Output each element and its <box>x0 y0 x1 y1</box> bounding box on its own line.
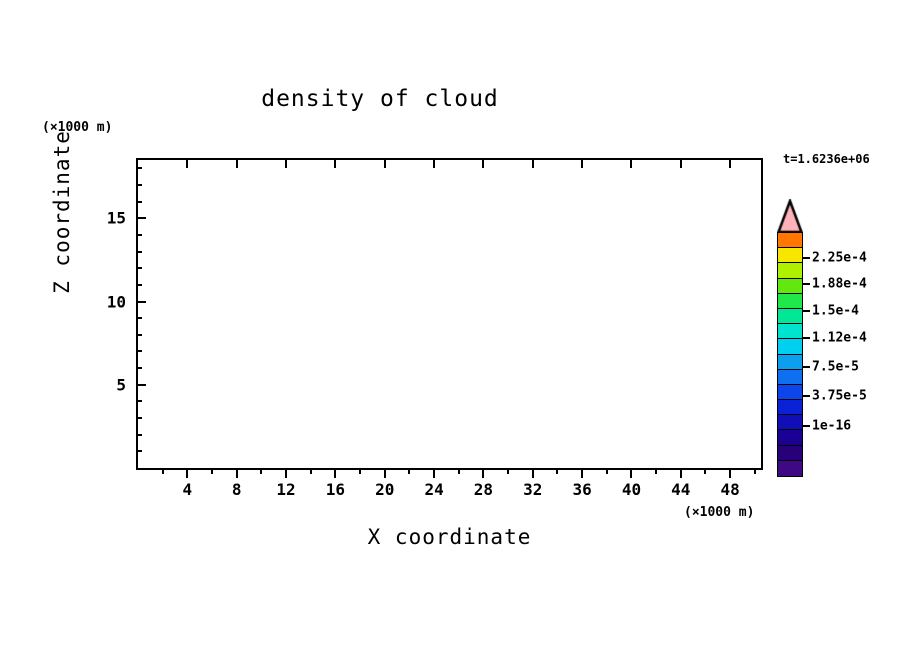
page-title: density of cloud <box>0 86 760 112</box>
colorbar-band <box>777 308 803 325</box>
colorbar-tick <box>803 283 810 285</box>
x-tick-minor <box>408 469 410 474</box>
y-tick-minor <box>137 267 142 269</box>
x-tick-top <box>729 160 731 168</box>
colorbar-band <box>777 429 803 446</box>
y-tick-label: 5 <box>0 375 126 394</box>
x-tick-top <box>334 160 336 168</box>
x-tick-minor <box>211 469 213 474</box>
y-tick-minor <box>137 350 142 352</box>
y-tick-minor <box>137 450 142 452</box>
x-tick-minor <box>655 469 657 474</box>
colorbar-tick-label: 1e-16 <box>812 419 851 434</box>
colorbar-band <box>777 445 803 462</box>
x-tick-minor <box>260 469 262 474</box>
colorbar-tick <box>803 257 810 259</box>
x-tick-major <box>334 469 336 478</box>
x-tick-label: 44 <box>671 480 690 499</box>
x-tick-minor <box>754 469 756 474</box>
colorbar-band <box>777 460 803 477</box>
x-tick-minor <box>507 469 509 474</box>
colorbar-tick-label: 1.88e-4 <box>812 277 867 292</box>
colorbar-tick <box>803 425 810 427</box>
y-tick-minor <box>137 251 142 253</box>
x-tick-major <box>285 469 287 478</box>
colorbar-band <box>777 247 803 264</box>
plot-frame <box>136 158 763 470</box>
colorbar[interactable] <box>777 232 803 475</box>
x-tick-label: 12 <box>276 480 295 499</box>
y-tick-minor <box>137 201 142 203</box>
x-tick-label: 32 <box>523 480 542 499</box>
colorbar-tick-label: 2.25e-4 <box>812 250 867 265</box>
x-tick-major <box>186 469 188 478</box>
x-tick-label: 4 <box>183 480 193 499</box>
x-tick-label: 36 <box>572 480 591 499</box>
y-tick-minor <box>137 367 142 369</box>
x-tick-top <box>384 160 386 168</box>
x-tick-minor <box>556 469 558 474</box>
x-tick-label: 20 <box>375 480 394 499</box>
x-tick-label: 16 <box>326 480 345 499</box>
x-tick-minor <box>359 469 361 474</box>
colorbar-band <box>777 232 803 249</box>
x-axis-title: X coordinate <box>136 525 763 549</box>
x-axis-unit-label: (×1000 m) <box>684 505 754 520</box>
y-tick-minor <box>137 317 142 319</box>
x-tick-major <box>630 469 632 478</box>
x-tick-label: 24 <box>424 480 443 499</box>
x-tick-label: 28 <box>474 480 493 499</box>
colorbar-band <box>777 338 803 355</box>
colorbar-band <box>777 293 803 310</box>
x-tick-top <box>532 160 534 168</box>
x-tick-major <box>482 469 484 478</box>
x-tick-major <box>384 469 386 478</box>
y-tick-minor <box>137 284 142 286</box>
x-tick-top <box>186 160 188 168</box>
colorbar-tick <box>803 395 810 397</box>
x-tick-major <box>729 469 731 478</box>
y-tick-major <box>137 301 146 303</box>
x-tick-label: 48 <box>721 480 740 499</box>
x-tick-major <box>433 469 435 478</box>
x-tick-minor <box>310 469 312 474</box>
colorbar-tick-label: 7.5e-5 <box>812 359 859 374</box>
x-tick-top <box>285 160 287 168</box>
x-tick-top <box>236 160 238 168</box>
y-tick-minor <box>137 417 142 419</box>
colorbar-band <box>777 399 803 416</box>
colorbar-tick-label: 1.12e-4 <box>812 330 867 345</box>
x-tick-top <box>630 160 632 168</box>
y-tick-minor <box>137 234 142 236</box>
colorbar-band <box>777 414 803 431</box>
x-tick-minor <box>704 469 706 474</box>
x-tick-label: 40 <box>622 480 641 499</box>
colorbar-tick <box>803 310 810 312</box>
colorbar-band <box>777 384 803 401</box>
x-tick-major <box>236 469 238 478</box>
x-tick-major <box>581 469 583 478</box>
colorbar-tick-label: 1.5e-4 <box>812 303 859 318</box>
colorbar-over-arrow <box>777 199 803 233</box>
y-tick-minor <box>137 434 142 436</box>
colorbar-tick-label: 3.75e-5 <box>812 389 867 404</box>
x-tick-minor <box>162 469 164 474</box>
x-tick-major <box>680 469 682 478</box>
y-tick-minor <box>137 400 142 402</box>
colorbar-tick <box>803 337 810 339</box>
y-tick-major <box>137 217 146 219</box>
x-tick-label: 8 <box>232 480 242 499</box>
x-tick-top <box>680 160 682 168</box>
y-axis-title: Z coordinate <box>50 102 74 322</box>
colorbar-band <box>777 262 803 279</box>
colorbar-band <box>777 278 803 295</box>
y-tick-minor <box>137 184 142 186</box>
y-tick-major <box>137 384 146 386</box>
figure-canvas: density of cloud (×1000 m) (×1000 m) t=1… <box>0 0 904 654</box>
x-tick-minor <box>458 469 460 474</box>
timestamp-annotation: t=1.6236e+06 <box>783 152 870 166</box>
x-tick-top <box>581 160 583 168</box>
x-tick-minor <box>606 469 608 474</box>
colorbar-band <box>777 323 803 340</box>
x-tick-top <box>433 160 435 168</box>
y-tick-minor <box>137 167 142 169</box>
colorbar-band <box>777 354 803 371</box>
colorbar-band <box>777 369 803 386</box>
y-tick-minor <box>137 334 142 336</box>
x-tick-top <box>482 160 484 168</box>
x-tick-major <box>532 469 534 478</box>
colorbar-tick <box>803 366 810 368</box>
